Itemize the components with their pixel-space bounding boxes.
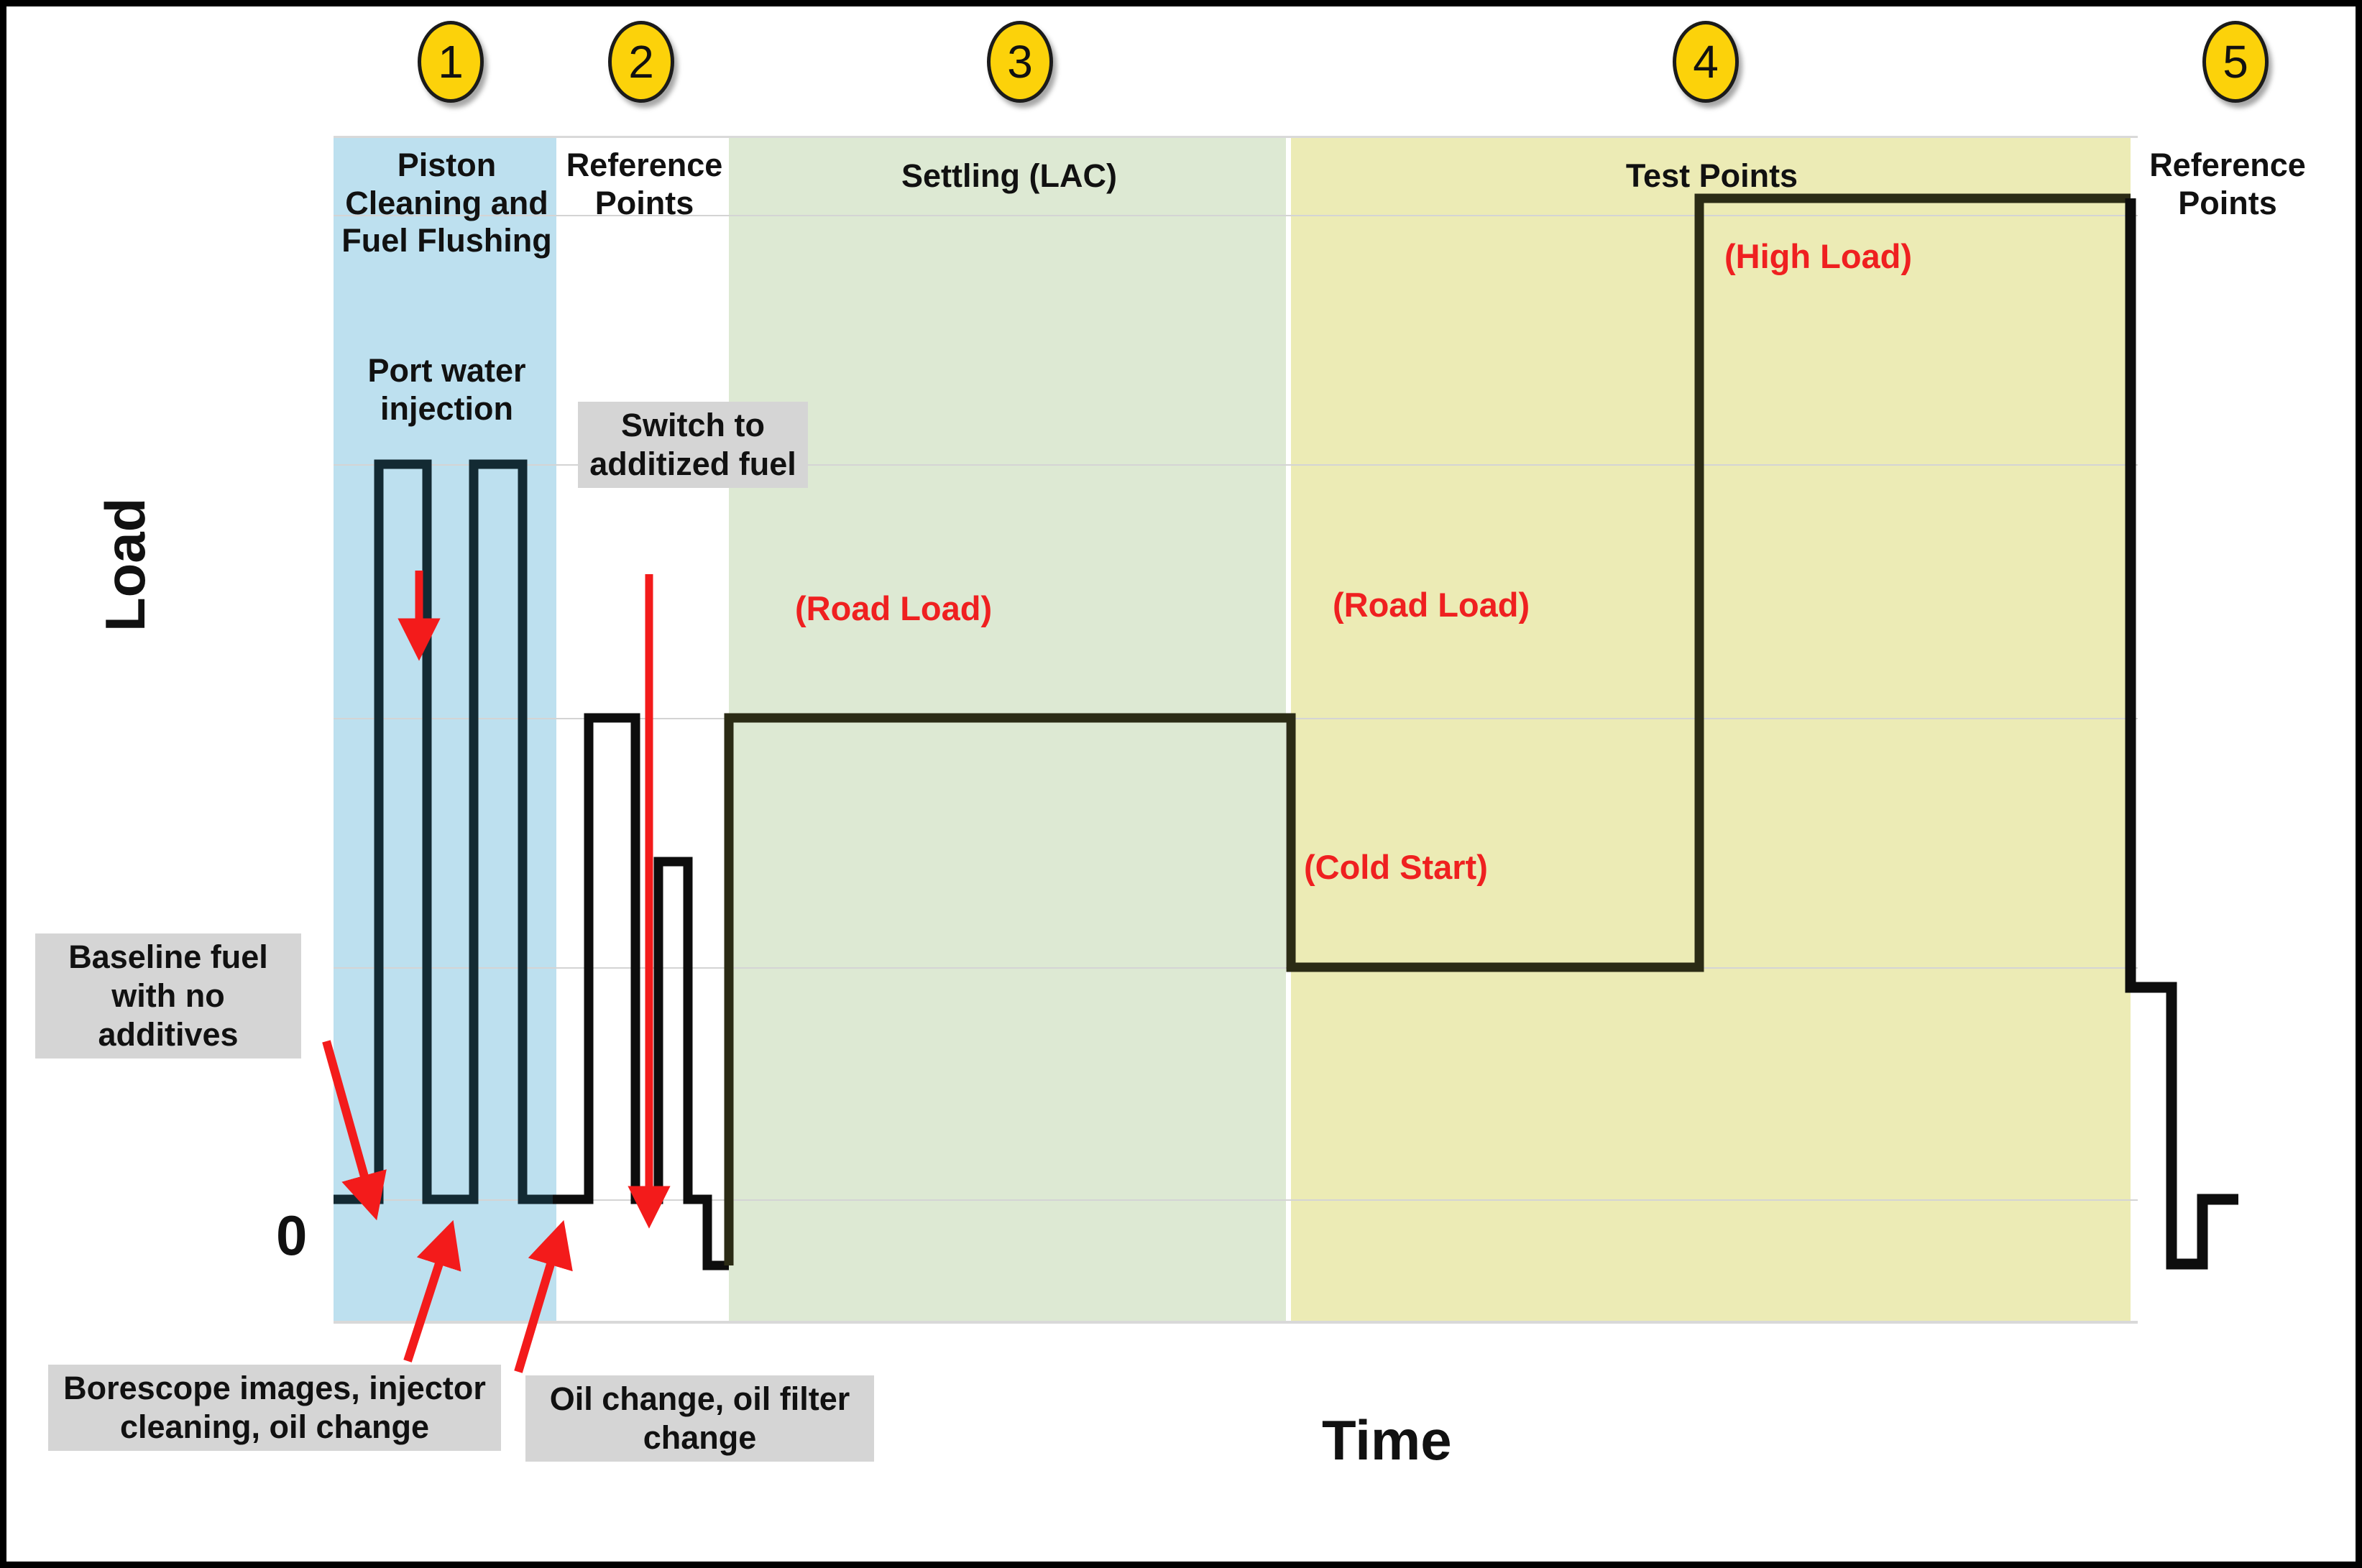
- phase-marker-1[interactable]: 1: [418, 21, 484, 103]
- phase-marker-5-number: 5: [2223, 39, 2248, 85]
- phase-marker-4[interactable]: 4: [1673, 21, 1739, 103]
- callout-borescope-images: Borescope images, injector cleaning, oil…: [48, 1365, 501, 1451]
- phase-title-reference-points-1: Reference Points: [549, 147, 740, 222]
- label-port-water-injection: Port water injection: [344, 351, 549, 428]
- phase-marker-3[interactable]: 3: [987, 21, 1053, 103]
- y-axis-label: Load: [93, 498, 158, 632]
- phase-marker-5[interactable]: 5: [2202, 21, 2269, 103]
- phase-title-test-points: Test Points: [1297, 157, 2127, 195]
- phase-marker-2-number: 2: [628, 39, 654, 85]
- phase-title-piston-cleaning: Piston Cleaning and Fuel Flushing: [341, 147, 553, 260]
- annotation-cold-start: (Cold Start): [1304, 847, 1488, 887]
- annotation-road-load-test: (Road Load): [1333, 585, 1530, 624]
- annotation-high-load: (High Load): [1724, 236, 1912, 276]
- callout-baseline-fuel: Baseline fuel with no additives: [35, 933, 301, 1059]
- plot-area: (High Load) (Road Load) (Road Load) (Col…: [334, 136, 2138, 1322]
- callout-oil-change: Oil change, oil filter change: [525, 1375, 874, 1462]
- phase-marker-1-number: 1: [438, 39, 464, 85]
- y-axis-zero-tick: 0: [276, 1203, 307, 1268]
- phase-title-settling-lac: Settling (LAC): [736, 157, 1282, 195]
- phase-marker-2[interactable]: 2: [608, 21, 674, 103]
- trace-segment-settling-and-test: [729, 198, 2131, 1265]
- callout-switch-to-additized-fuel: Switch to additized fuel: [578, 402, 808, 488]
- trace-segment-piston-cleaning: [334, 464, 553, 1199]
- load-trace: [334, 136, 2138, 1322]
- diagram-canvas: (High Load) (Road Load) (Road Load) (Col…: [0, 0, 2362, 1568]
- trace-segment-reference-points-2: [2131, 198, 2238, 1264]
- phase-marker-3-number: 3: [1007, 39, 1033, 85]
- x-axis-label: Time: [1322, 1408, 1452, 1473]
- phase-marker-4-number: 4: [1693, 39, 1719, 85]
- trace-segment-reference-points-1: [553, 718, 729, 1265]
- annotation-road-load-settling: (Road Load): [795, 589, 992, 628]
- phase-title-reference-points-2: Reference Points: [2127, 147, 2328, 222]
